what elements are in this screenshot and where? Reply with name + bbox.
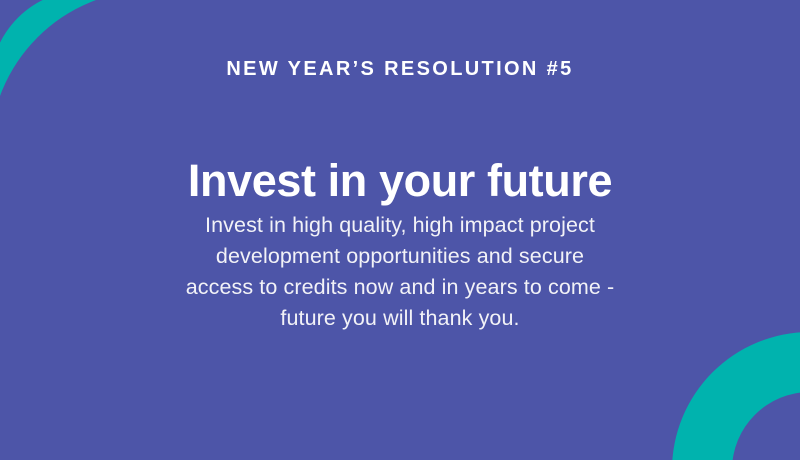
body-line: development opportunities and secure (0, 241, 800, 272)
body-line: Invest in high quality, high impact proj… (0, 210, 800, 241)
card-content: NEW YEAR’S RESOLUTION #5 Invest in your … (0, 0, 800, 460)
body-line: access to credits now and in years to co… (0, 272, 800, 303)
eyebrow-label: NEW YEAR’S RESOLUTION #5 (0, 57, 800, 81)
resolution-card: NEW YEAR’S RESOLUTION #5 Invest in your … (0, 0, 800, 460)
body-paragraph: Invest in high quality, high impact proj… (0, 210, 800, 334)
page-title: Invest in your future (0, 154, 800, 207)
body-line: future you will thank you. (0, 303, 800, 334)
